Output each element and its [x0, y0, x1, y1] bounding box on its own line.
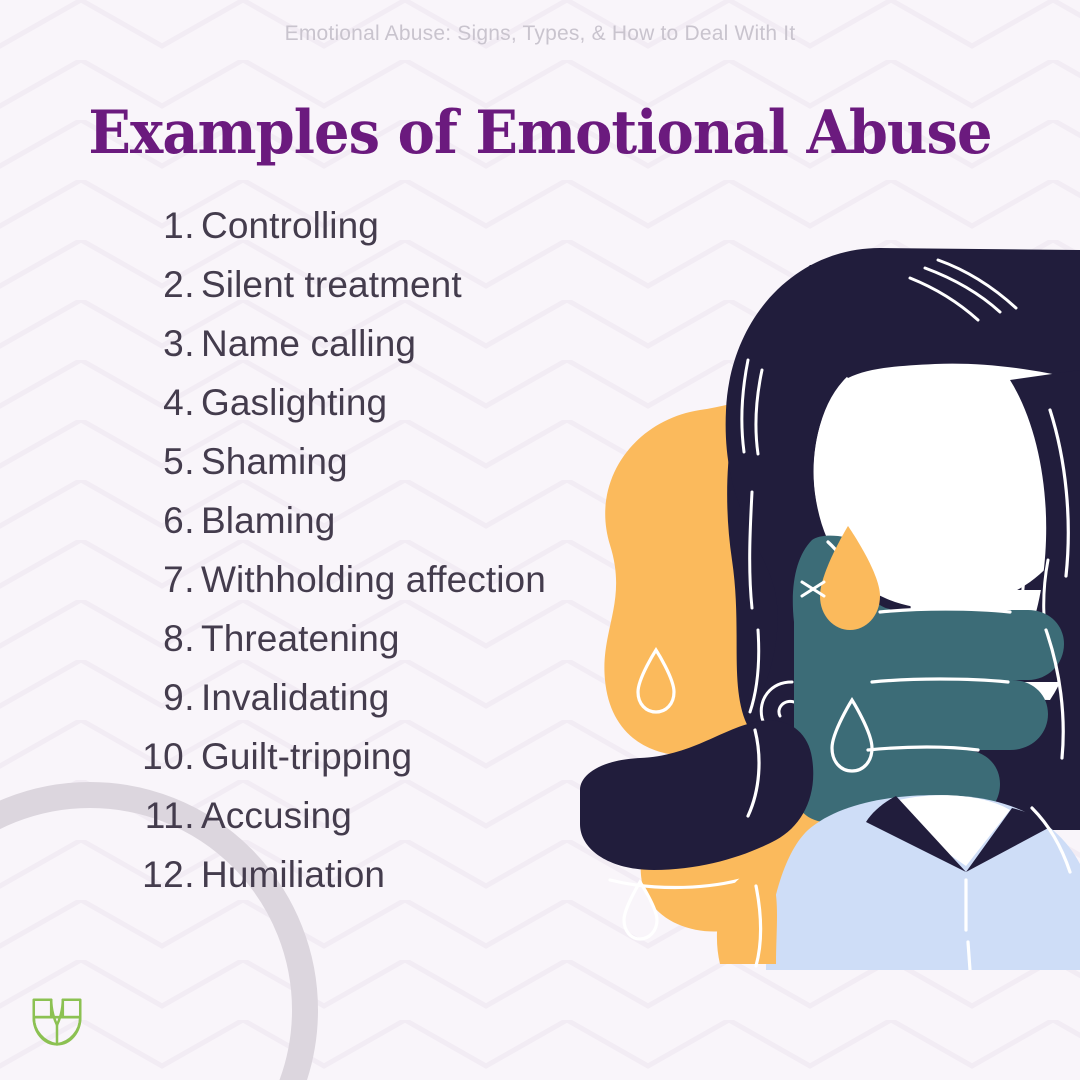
- list-item-number: 8.: [0, 618, 195, 660]
- list-item: 3. Name calling: [0, 323, 620, 382]
- list-item-label: Gaslighting: [201, 382, 387, 424]
- list-item-label: Threatening: [201, 618, 400, 660]
- list-item-label: Silent treatment: [201, 264, 462, 306]
- list-item: 10. Guilt-tripping: [0, 736, 620, 795]
- list-item-number: 12.: [0, 854, 195, 896]
- list-item-label: Controlling: [201, 205, 379, 247]
- list-item-label: Humiliation: [201, 854, 385, 896]
- list-item: 6. Blaming: [0, 500, 620, 559]
- list-item: 2. Silent treatment: [0, 264, 620, 323]
- infographic-canvas: Emotional Abuse: Signs, Types, & How to …: [0, 0, 1080, 1080]
- list-item-number: 10.: [0, 736, 195, 778]
- list-item: 9. Invalidating: [0, 677, 620, 736]
- list-item-number: 9.: [0, 677, 195, 719]
- list-item: 4. Gaslighting: [0, 382, 620, 441]
- list-item: 11. Accusing: [0, 795, 620, 854]
- list-item-label: Withholding affection: [201, 559, 546, 601]
- list-item-number: 7.: [0, 559, 195, 601]
- list-item-label: Name calling: [201, 323, 416, 365]
- list-item-number: 1.: [0, 205, 195, 247]
- list-item-label: Blaming: [201, 500, 335, 542]
- list-item-label: Guilt-tripping: [201, 736, 412, 778]
- list-item: 12. Humiliation: [0, 854, 620, 913]
- header-caption: Emotional Abuse: Signs, Types, & How to …: [0, 22, 1080, 46]
- list-item-number: 2.: [0, 264, 195, 306]
- list-item: 7. Withholding affection: [0, 559, 620, 618]
- list-item: 5. Shaming: [0, 441, 620, 500]
- list-item: 1. Controlling: [0, 205, 620, 264]
- list-item-number: 3.: [0, 323, 195, 365]
- list-item: 8. Threatening: [0, 618, 620, 677]
- list-item-label: Shaming: [201, 441, 348, 483]
- page-title: Examples of Emotional Abuse: [38, 98, 1042, 168]
- list-item-label: Invalidating: [201, 677, 389, 719]
- list-item-number: 11.: [0, 795, 195, 837]
- list-item-number: 5.: [0, 441, 195, 483]
- lotus-flower-logo[interactable]: [26, 992, 88, 1054]
- list-item-number: 6.: [0, 500, 195, 542]
- woman-covering-mouth-illustration: [580, 230, 1080, 970]
- abuse-examples-list: 1. Controlling 2. Silent treatment 3. Na…: [0, 205, 620, 913]
- list-item-number: 4.: [0, 382, 195, 424]
- list-item-label: Accusing: [201, 795, 352, 837]
